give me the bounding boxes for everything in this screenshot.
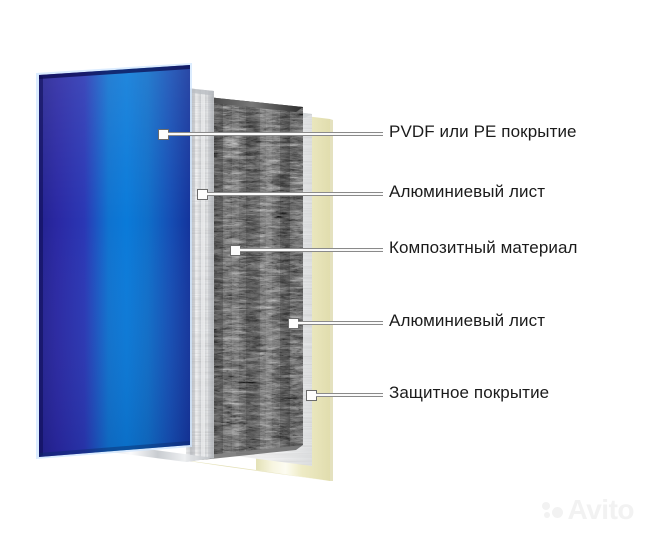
avito-logo-icon (542, 499, 564, 521)
avito-watermark-text: Avito (568, 496, 634, 524)
callout-label-aluminium-sheet-back: Алюминиевый лист (389, 312, 545, 329)
callout-line-protective-coating (316, 393, 383, 397)
callout-line-pvdf-coating (168, 132, 383, 136)
callout-line-composite-core (240, 248, 383, 252)
callout-aluminium-sheet-front (197, 187, 383, 201)
layer-pvdf-coating (36, 63, 192, 459)
callout-line-aluminium-sheet-back (298, 321, 383, 325)
diagram-canvas: PVDF или PE покрытие Алюминиевый лист Ко… (0, 0, 646, 540)
panel-stack (0, 0, 646, 540)
avito-watermark: Avito (542, 496, 634, 524)
callout-pvdf-coating (158, 127, 383, 141)
callout-protective-coating (306, 388, 383, 402)
callout-aluminium-sheet-back (288, 316, 383, 330)
layer-composite-core (200, 90, 312, 462)
callout-label-pvdf-coating: PVDF или PE покрытие (389, 123, 577, 140)
callout-label-composite-core: Композитный материал (389, 239, 578, 256)
callout-label-aluminium-sheet-front: Алюминиевый лист (389, 183, 545, 200)
callout-line-aluminium-sheet-front (207, 192, 383, 196)
callout-label-protective-coating: Защитное покрытие (389, 384, 549, 401)
panel-stack-svg (0, 0, 646, 540)
callout-composite-core (230, 243, 383, 257)
